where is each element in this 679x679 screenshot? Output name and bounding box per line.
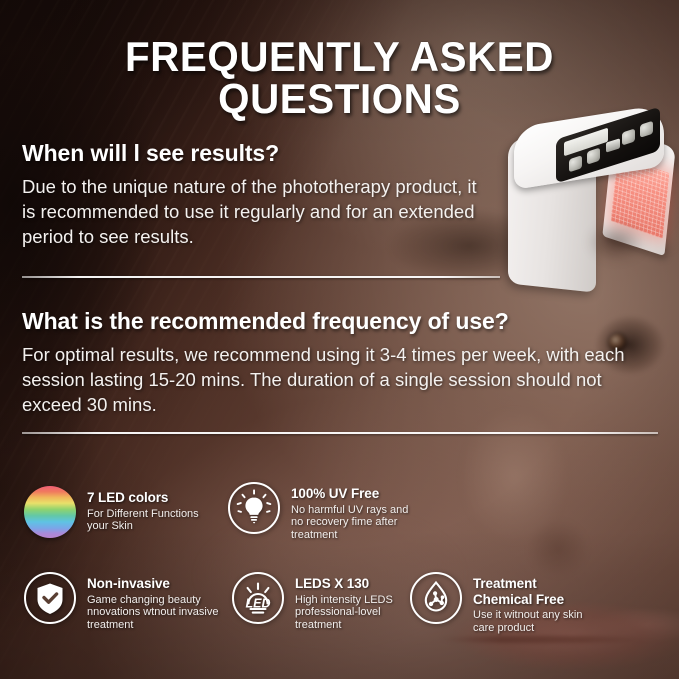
divider-1 (22, 276, 500, 278)
feature-desc: For Different Functions your Skin (87, 508, 199, 534)
feature-text: Non-invasive Game changing beauty nnovat… (87, 572, 218, 632)
droplet-molecule-icon (410, 572, 462, 624)
feature-text: 100% UV Free No harmful UV rays and no r… (291, 482, 408, 542)
feature-title: LEDS X 130 (295, 576, 393, 592)
page-title: FREQUENTLY ASKED QUESTIONS (14, 36, 666, 120)
faq-item-2: What is the recommended frequency of use… (22, 308, 662, 417)
shield-check-icon (24, 572, 76, 624)
feature-badge-led-colors: 7 LED colors For Different Functions you… (24, 486, 224, 538)
lightbulb-icon (228, 482, 280, 534)
faq-question-1: When will l see results? (22, 140, 492, 167)
feature-desc: No harmful UV rays and no recovery fime … (291, 504, 408, 543)
rainbow-disc-icon (24, 486, 76, 538)
feature-text: LEDS X 130 High intensity LEDS professio… (295, 572, 393, 632)
feature-title: 100% UV Free (291, 486, 408, 502)
feature-desc: Use it witnout any skin care product (473, 609, 582, 635)
faq-answer-2: For optimal results, we recommend using … (22, 343, 662, 417)
faq-poster: FREQUENTLY ASKED QUESTIONS When will l s… (0, 0, 679, 679)
content-layer: FREQUENTLY ASKED QUESTIONS When will l s… (0, 0, 679, 679)
feature-badge-non-invasive: Non-invasive Game changing beauty nnovat… (24, 572, 229, 632)
divider-2 (22, 432, 658, 434)
faq-answer-1: Due to the unique nature of the photothe… (22, 175, 492, 249)
feature-desc: Game changing beauty nnovations wtnout i… (87, 594, 218, 633)
feature-text: Treatment Chemical Free Use it witnout a… (473, 572, 582, 635)
feature-desc: High intensity LEDS professional-lovel t… (295, 594, 393, 633)
feature-badge-chemical-free: Treatment Chemical Free Use it witnout a… (410, 572, 630, 635)
feature-title: 7 LED colors (87, 490, 199, 506)
faq-item-1: When will l see results? Due to the uniq… (22, 140, 492, 249)
feature-badge-uv-free: 100% UV Free No harmful UV rays and no r… (228, 482, 423, 542)
svg-text:LED: LED (246, 597, 271, 611)
feature-title: Treatment Chemical Free (473, 576, 582, 607)
feature-text: 7 LED colors For Different Functions you… (87, 486, 199, 533)
faq-question-2: What is the recommended frequency of use… (22, 308, 662, 335)
feature-badge-leds-count: LED LEDS X 130 High intensity LEDS profe… (232, 572, 412, 632)
feature-title: Non-invasive (87, 576, 218, 592)
led-lamp-icon: LED (232, 572, 284, 624)
